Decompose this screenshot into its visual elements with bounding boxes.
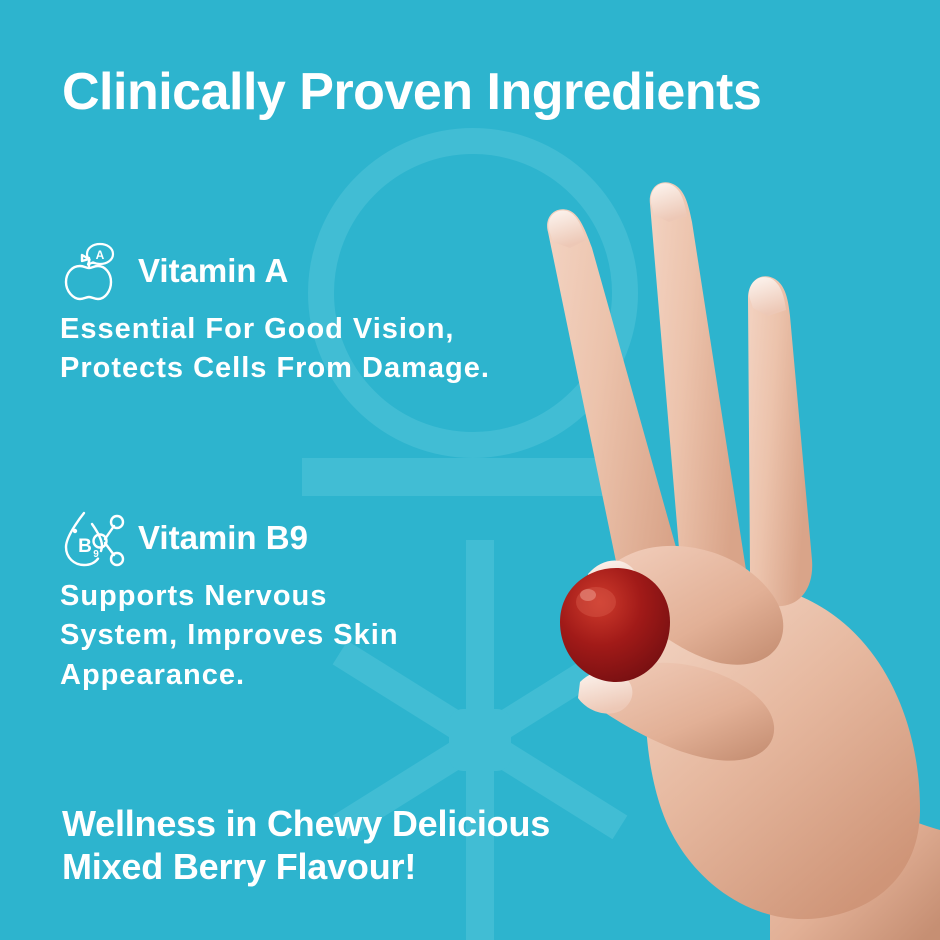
- ingredient-name: Vitamin A: [138, 252, 288, 290]
- ingredient-description: Essential For Good Vision, Protects Cell…: [60, 310, 530, 389]
- page-title: Clinically Proven Ingredients: [62, 66, 761, 118]
- ingredient-name: Vitamin B9: [138, 519, 308, 557]
- ingredient-heading-row: A Vitamin A: [60, 238, 530, 304]
- gummy-specular: [580, 589, 596, 601]
- ingredient-heading-row: B 9 Vitamin B9: [60, 505, 530, 571]
- ingredient-description: Supports Nervous System, Improves Skin A…: [60, 577, 530, 695]
- starburst-hub: [449, 709, 511, 771]
- vitamin-b9-badge-subscript: 9: [93, 549, 99, 560]
- gummy-candy: [560, 568, 670, 682]
- vitamin-b9-badge-letter: B: [78, 536, 92, 557]
- droplet-dot: [73, 529, 77, 533]
- droplet-molecule-b9-icon: B 9: [60, 507, 126, 569]
- ingredient-vitamin-b9: B 9 Vitamin B9 Supports Nervous System, …: [60, 505, 530, 695]
- apple-vitamin-a-icon: A: [60, 240, 126, 302]
- ingredient-vitamin-a: A Vitamin A Essential For Good Vision, P…: [60, 238, 530, 389]
- index-fingernail: [548, 210, 586, 248]
- product-feature-poster: Clinically Proven Ingredients A Vitamin …: [0, 0, 940, 940]
- hand-holding-gummy-photo: [520, 170, 940, 940]
- flavour-tagline: Wellness in Chewy Delicious Mixed Berry …: [62, 802, 550, 888]
- ring-finger: [748, 276, 812, 606]
- hand-illustration: [520, 170, 940, 940]
- vitamin-a-badge-letter: A: [96, 248, 105, 262]
